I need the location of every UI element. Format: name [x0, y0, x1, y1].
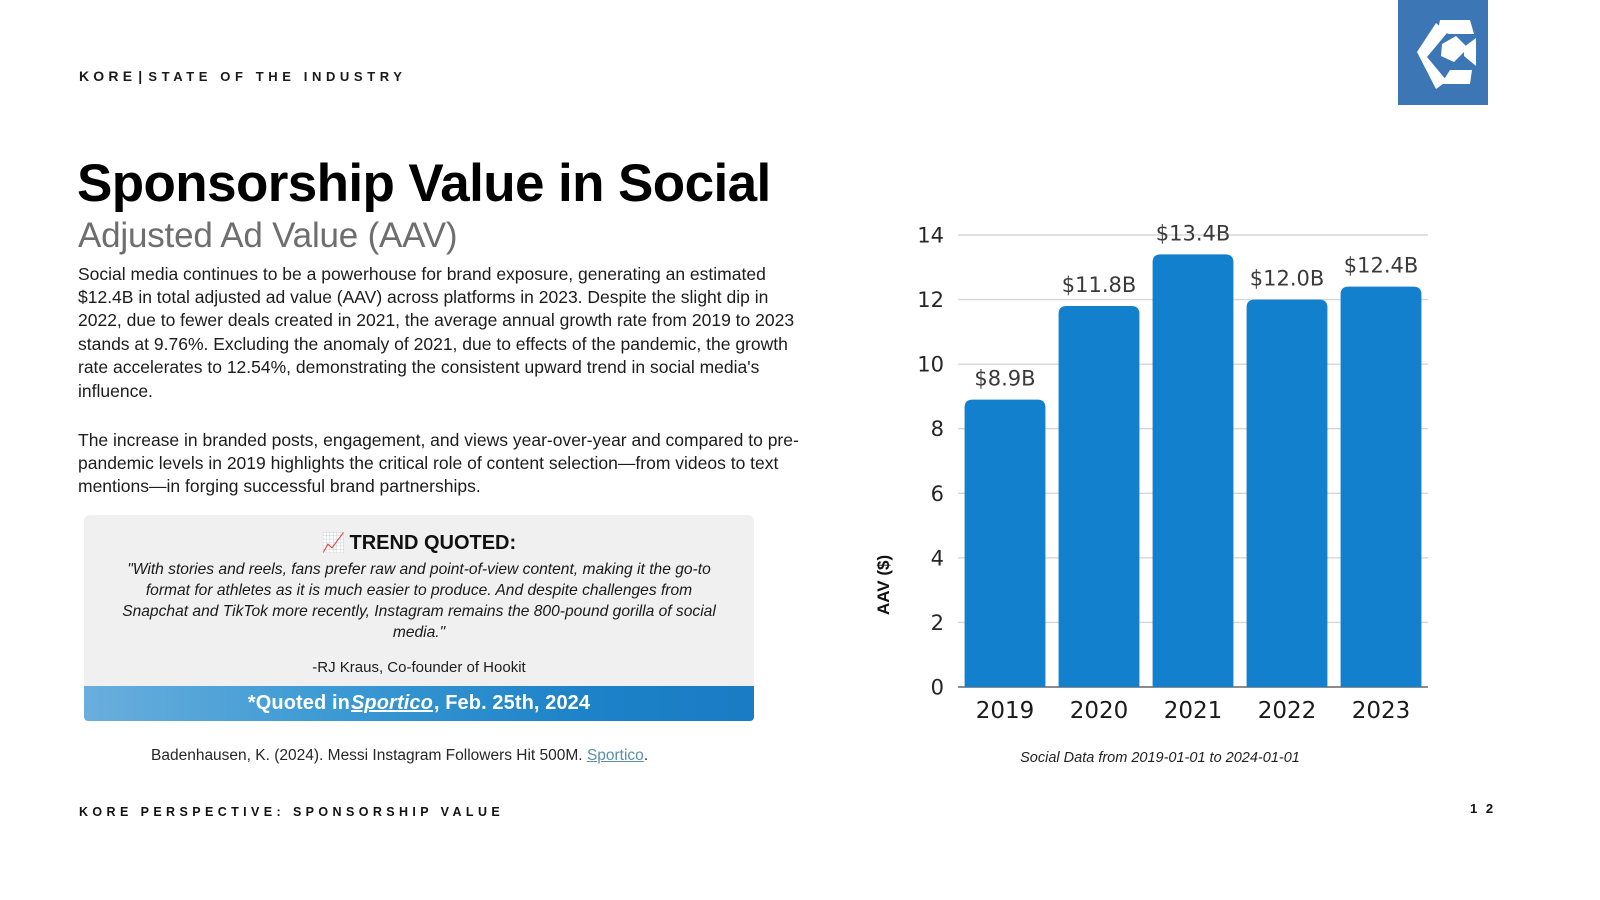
kicker-brand: KORE: [79, 68, 136, 84]
chart-bar: [965, 400, 1046, 687]
chart-y-tick-label: 6: [931, 482, 944, 506]
chart-y-tick-label: 2: [931, 611, 944, 635]
quote-source-banner[interactable]: *Quoted in Sportico, Feb. 25th, 2024: [84, 686, 754, 721]
page-subtitle: Adjusted Ad Value (AAV): [78, 215, 457, 257]
footer-label: KORE PERSPECTIVE: SPONSORSHIP VALUE: [79, 805, 504, 819]
banner-prefix: *Quoted in: [248, 692, 350, 715]
chart-x-tick-label: 2020: [1070, 698, 1129, 724]
chart-bar: [1247, 300, 1328, 687]
kicker-rest: STATE OF THE INDUSTRY: [148, 69, 406, 84]
chart-x-tick-label: 2021: [1164, 698, 1223, 724]
chart-y-tick-label: 10: [917, 353, 944, 377]
banner-sportico-link[interactable]: Sportico: [350, 692, 434, 715]
kicker-separator: |: [136, 68, 148, 84]
trend-quote-text: "With stories and reels, fans prefer raw…: [106, 559, 732, 643]
chart-x-tick-label: 2022: [1258, 698, 1317, 724]
chart-canvas: 02468101214$8.9B2019$11.8B2020$13.4B2021…: [880, 205, 1490, 745]
trend-quote-heading: 📈TREND QUOTED:: [106, 531, 732, 555]
chart-bar: [1341, 287, 1422, 687]
body-paragraph-1: Social media continues to be a powerhous…: [78, 263, 813, 403]
citation-line: Badenhausen, K. (2024). Messi Instagram …: [151, 747, 648, 765]
chart-footnote: Social Data from 2019-01-01 to 2024-01-0…: [880, 750, 1440, 766]
chart-x-tick-label: 2019: [976, 698, 1035, 724]
chart-y-tick-label: 8: [931, 417, 944, 441]
chart-bar-value-label: $11.8B: [1062, 273, 1137, 297]
chart-bar: [1059, 306, 1140, 687]
chart-y-tick-label: 12: [917, 288, 944, 312]
body-paragraph-2: The increase in branded posts, engagemen…: [78, 429, 813, 499]
trend-quote-heading-label: TREND QUOTED:: [350, 532, 517, 554]
chart-bar: [1153, 254, 1234, 687]
kore-logo-block: [1398, 0, 1488, 105]
page-title: Sponsorship Value in Social: [77, 154, 771, 214]
chart-bar-value-label: $12.4B: [1344, 254, 1419, 278]
trend-quote-attribution: -RJ Kraus, Co-founder of Hookit: [106, 659, 732, 676]
chart-bar-value-label: $8.9B: [974, 367, 1035, 391]
chart-bar-value-label: $13.4B: [1156, 221, 1231, 245]
banner-suffix: , Feb. 25th, 2024: [434, 692, 590, 715]
page-number: 1 2: [1470, 801, 1496, 816]
aav-bar-chart: AAV ($) 02468101214$8.9B2019$11.8B2020$1…: [880, 205, 1490, 785]
chart-y-tick-label: 0: [931, 676, 944, 700]
citation-text: Badenhausen, K. (2024). Messi Instagram …: [151, 747, 587, 764]
kicker-eyebrow: KORE|STATE OF THE INDUSTRY: [79, 68, 407, 84]
chart-x-tick-label: 2023: [1352, 698, 1411, 724]
chart-y-tick-label: 4: [931, 546, 944, 570]
trend-quote-card: 📈TREND QUOTED: "With stories and reels, …: [84, 515, 754, 694]
kore-cube-logo-icon: [1398, 0, 1488, 105]
chart-y-tick-label: 14: [917, 224, 944, 248]
trend-chart-icon: 📈: [322, 533, 346, 554]
citation-sportico-link[interactable]: Sportico: [587, 747, 644, 764]
chart-bar-value-label: $12.0B: [1250, 267, 1325, 291]
citation-period: .: [644, 747, 648, 764]
